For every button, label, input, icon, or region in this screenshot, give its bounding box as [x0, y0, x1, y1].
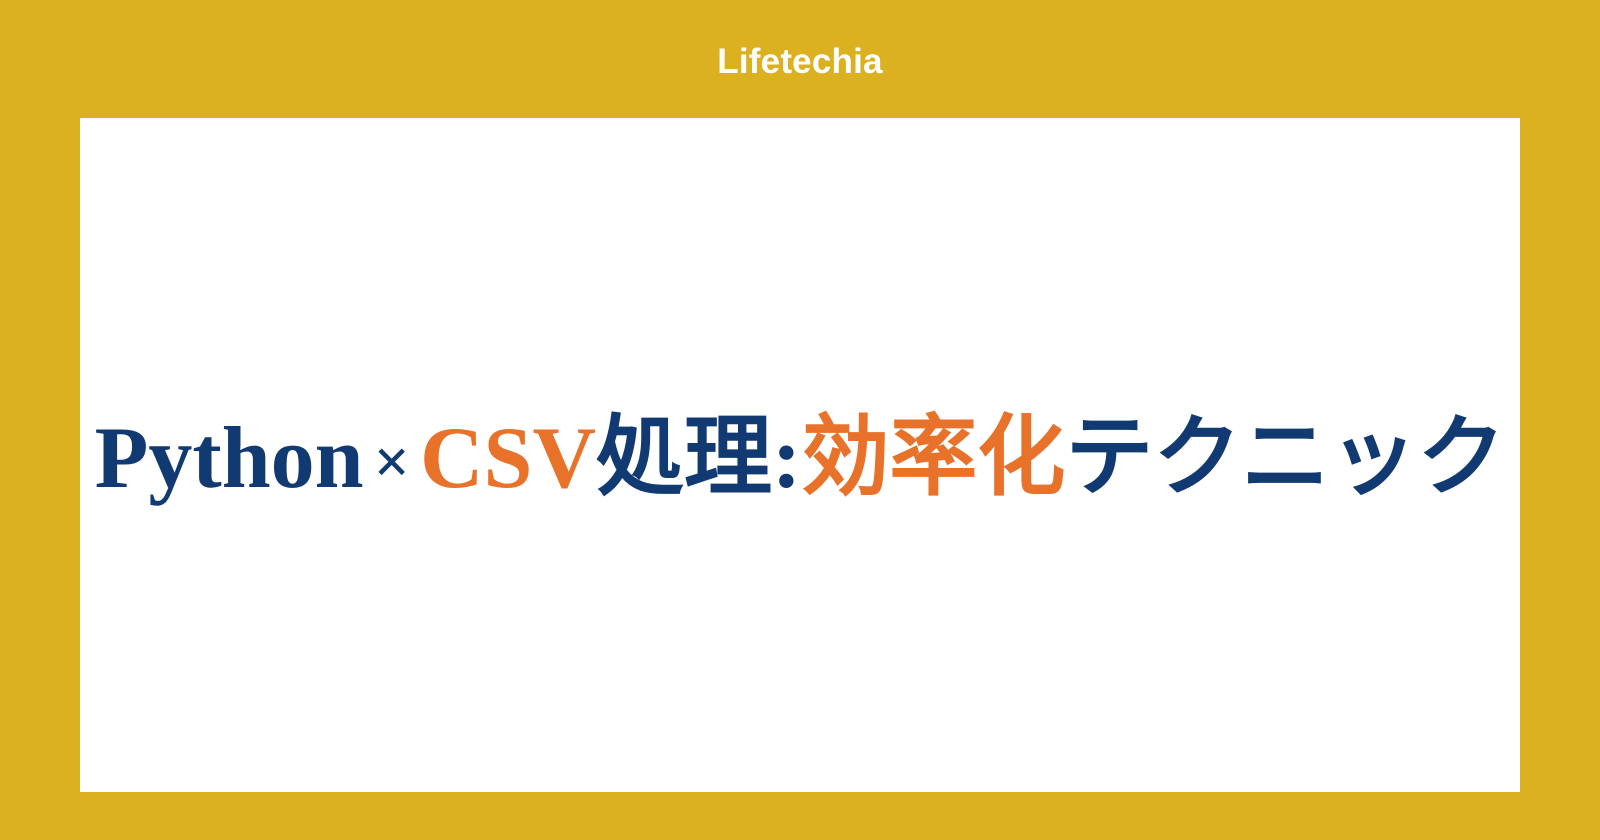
title-segment-python: Python [95, 410, 364, 507]
content-card: Python×CSV処理:効率化テクニック [80, 118, 1520, 792]
article-title: Python×CSV処理:効率化テクニック [95, 407, 1506, 511]
eyecatch-canvas: Lifetechia Python×CSV処理:効率化テクニック [0, 0, 1600, 840]
title-segment-technique: テクニック [1065, 410, 1505, 507]
title-segment-csv: CSV [420, 410, 596, 507]
title-segment-shori: 処理: [596, 410, 801, 507]
site-header: Lifetechia [0, 0, 1600, 118]
site-title: Lifetechia [717, 44, 882, 79]
title-segment-kouritsuka: 効率化 [801, 410, 1065, 507]
title-separator-times: × [364, 427, 420, 497]
